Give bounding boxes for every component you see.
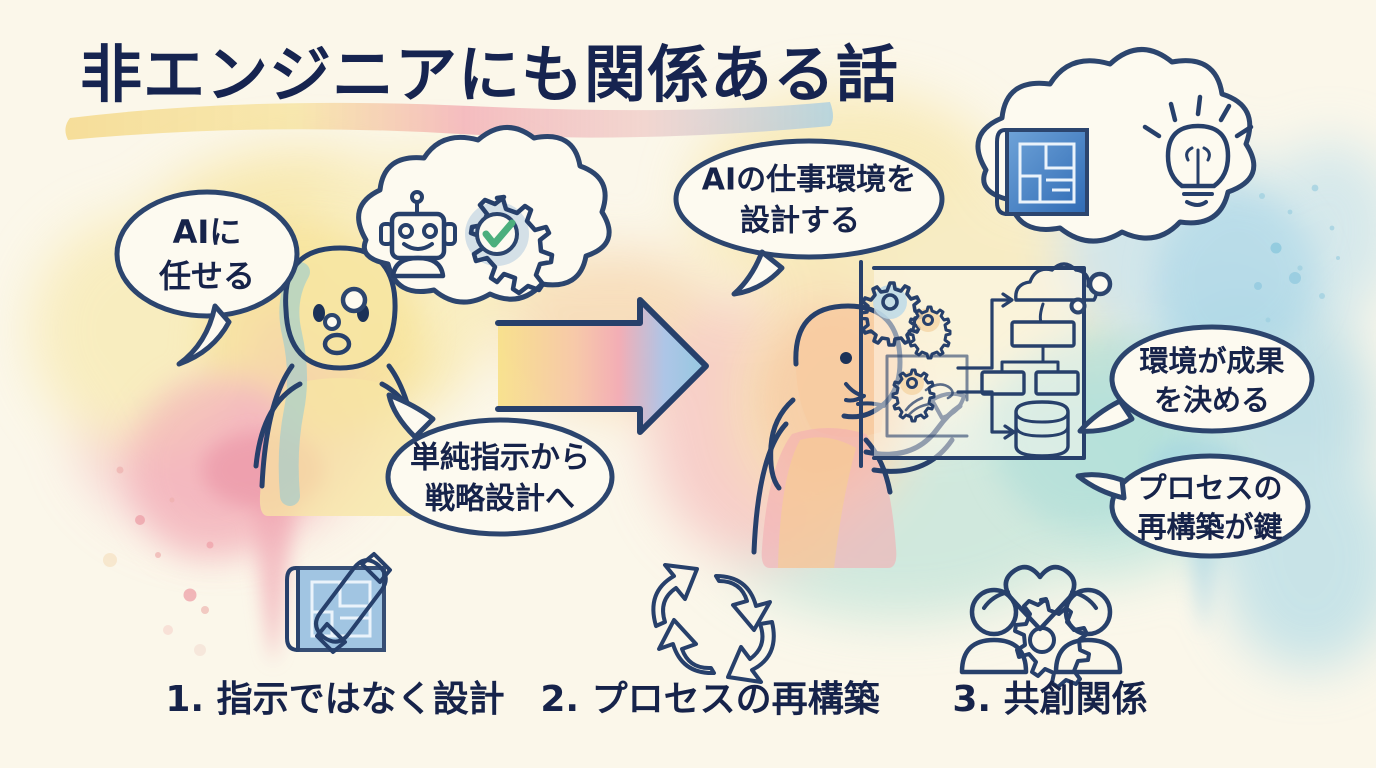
infographic-canvas: 非エンジニアにも関係ある話 [0, 0, 1376, 768]
people-heart-gear-icon [962, 567, 1120, 687]
footer-caption-2: 2. プロセスの再構築 [540, 679, 880, 720]
footer-caption-1: 1. 指示ではなく設計 [165, 679, 504, 720]
footer-layer: 1. 指示ではなく設計 2. プロセスの再構築 3. 共創関係 [0, 0, 1376, 768]
footer-caption-3: 3. 共創関係 [952, 679, 1147, 720]
blueprint-wrench-icon [287, 554, 394, 652]
cycle-arrows-icon [653, 565, 773, 682]
